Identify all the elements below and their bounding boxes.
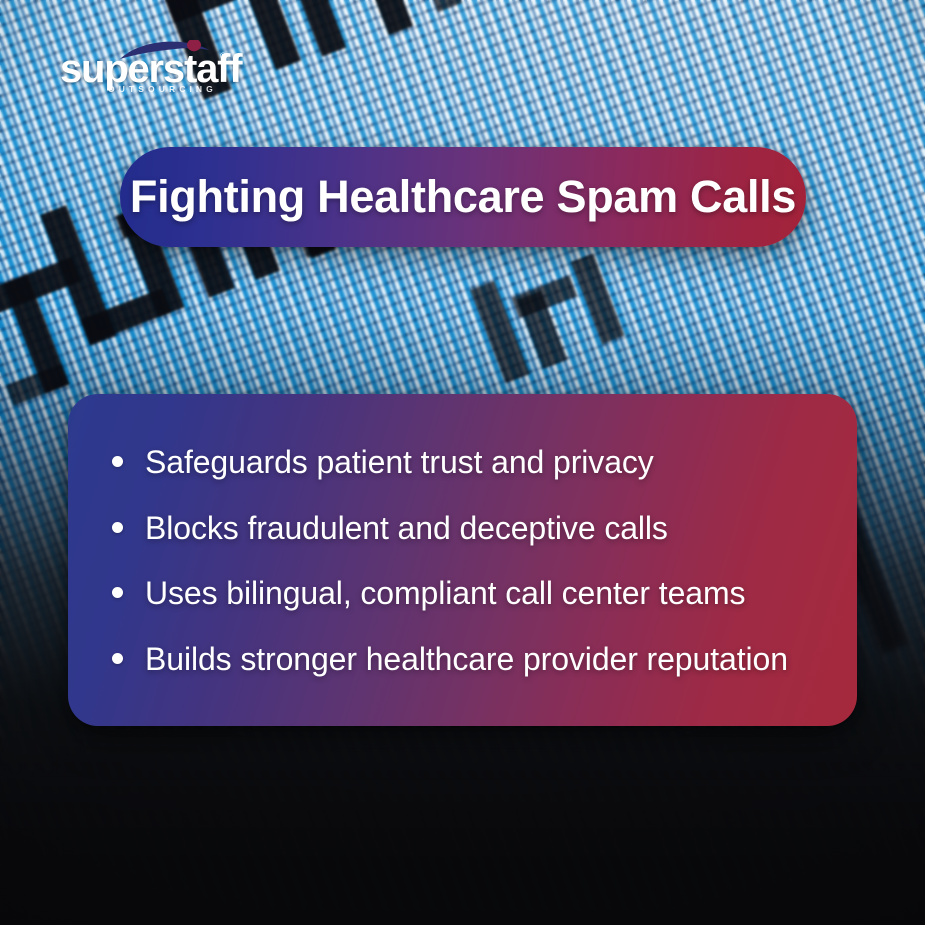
list-item: Builds stronger healthcare provider repu… xyxy=(112,641,813,678)
title-banner: Fighting Healthcare Spam Calls xyxy=(120,147,806,247)
bullet-dot-icon xyxy=(112,522,123,533)
benefits-card: Safeguards patient trust and privacy Blo… xyxy=(68,394,857,726)
list-item-label: Safeguards patient trust and privacy xyxy=(145,444,654,481)
page-title: Fighting Healthcare Spam Calls xyxy=(130,171,796,223)
bullet-dot-icon xyxy=(112,653,123,664)
list-item-label: Blocks fraudulent and deceptive calls xyxy=(145,510,668,547)
list-item: Blocks fraudulent and deceptive calls xyxy=(112,510,813,547)
bullet-dot-icon xyxy=(112,456,123,467)
logo-tagline: OUTSOURCING xyxy=(108,84,217,94)
superstaff-logo[interactable]: superstaff ® OUTSOURCING xyxy=(60,40,235,86)
list-item-label: Uses bilingual, compliant call center te… xyxy=(145,575,745,612)
bullet-dot-icon xyxy=(112,587,123,598)
list-item: Safeguards patient trust and privacy xyxy=(112,444,813,481)
list-item-label: Builds stronger healthcare provider repu… xyxy=(145,641,788,678)
registered-trademark-icon: ® xyxy=(220,51,227,61)
list-item: Uses bilingual, compliant call center te… xyxy=(112,575,813,612)
poster-canvas: superstaff ® OUTSOURCING Fighting Health… xyxy=(0,0,925,925)
logo-wordmark: superstaff xyxy=(60,49,241,89)
